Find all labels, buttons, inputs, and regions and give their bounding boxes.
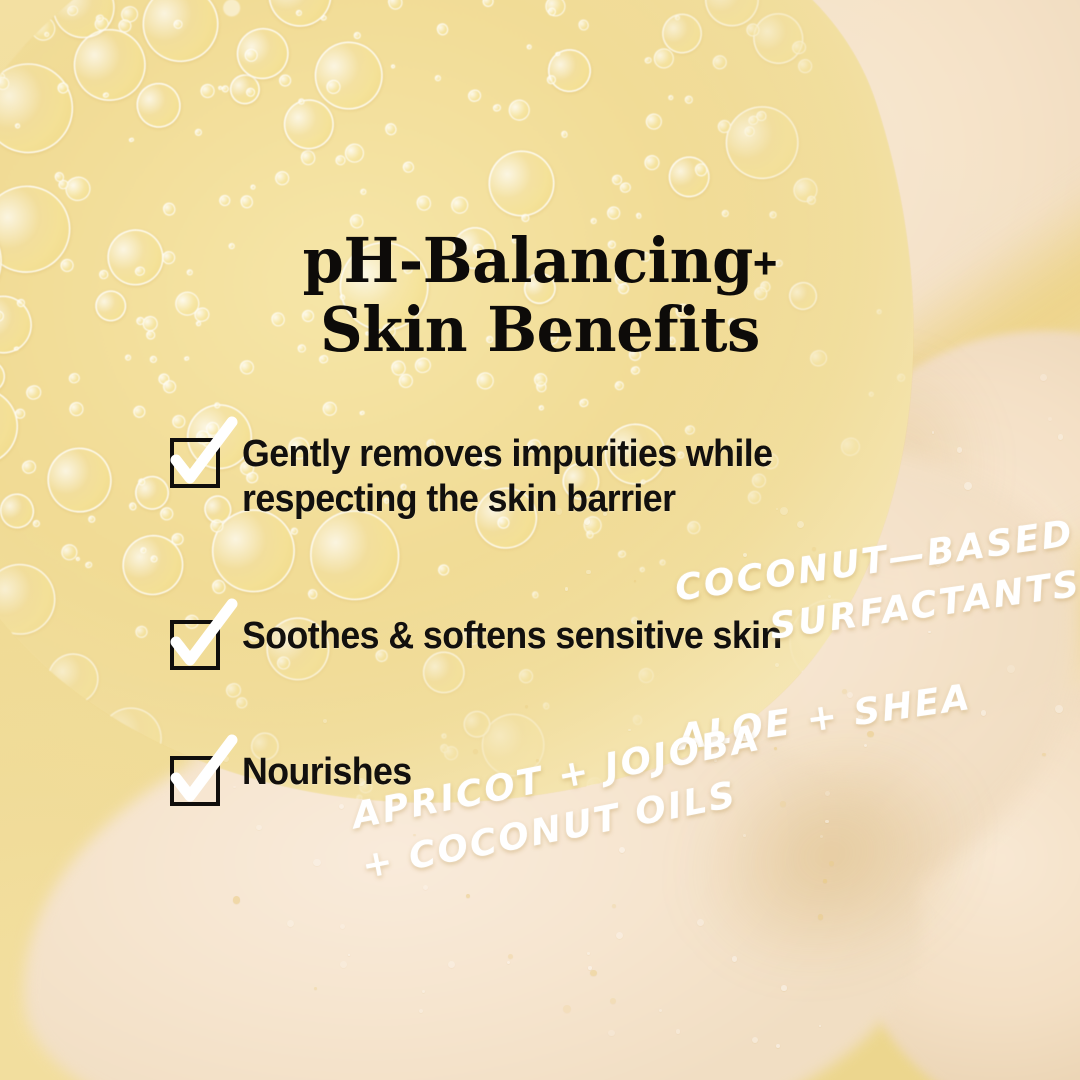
checkbox-checked <box>170 438 220 488</box>
checkmark-icon <box>166 738 244 816</box>
benefit-item: Nourishes <box>170 750 422 806</box>
checkmark-icon <box>166 420 244 498</box>
benefit-label: Soothes & softens sensitive skin <box>242 614 782 659</box>
benefit-item: Gently removes impurities while respecti… <box>170 432 806 522</box>
checkbox-checked <box>170 756 220 806</box>
benefits-checklist: Gently removes impurities while respecti… <box>0 0 1080 1080</box>
checkbox-checked <box>170 620 220 670</box>
benefit-label: Nourishes <box>242 750 412 795</box>
benefit-item: Soothes & softens sensitive skin <box>170 614 816 670</box>
checkmark-icon <box>166 602 244 680</box>
benefit-label: Gently removes impurities while respecti… <box>242 432 772 522</box>
infographic-canvas: pH-Balancing+ Skin Benefits Gently remov… <box>0 0 1080 1080</box>
